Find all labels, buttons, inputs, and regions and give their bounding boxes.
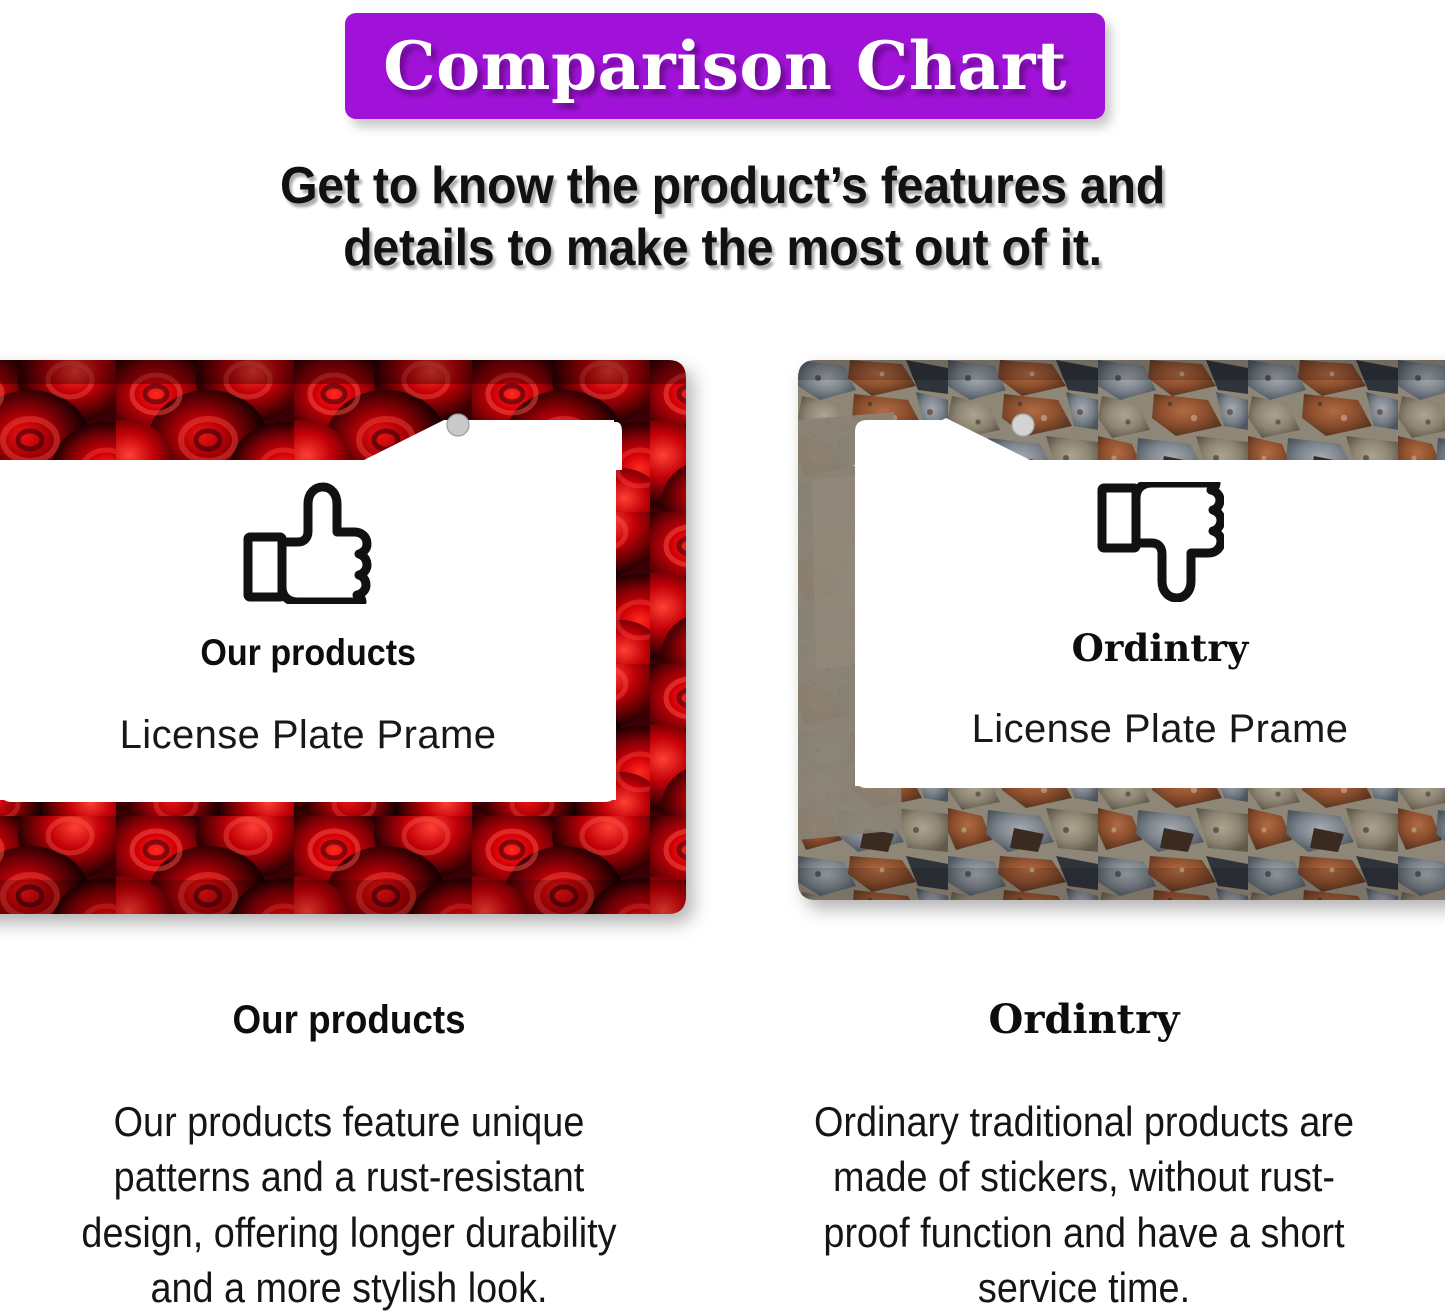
plate-window-ordinary: Ordintry License Plate Prame <box>855 460 1445 786</box>
subtitle-line-1: Get to know the product’s features and <box>51 155 1395 217</box>
page-subtitle: Get to know the product’s features and d… <box>51 155 1395 280</box>
plate-product-name-ours: License Plate Prame <box>120 715 497 755</box>
product-plate-ours: Our products License Plate Prame <box>0 360 688 916</box>
product-plate-ordinary: Ordintry License Plate Prame <box>798 360 1445 902</box>
plate-heading-ordinary: Ordintry <box>1072 630 1249 667</box>
thumbs-up-icon <box>242 482 374 604</box>
column-body-ours: Our products feature unique patterns and… <box>24 1094 674 1316</box>
column-heading-ours: Our products <box>17 1000 681 1040</box>
column-heading-ordinary: Ordintry <box>723 1000 1445 1040</box>
screw-hole <box>1012 414 1034 436</box>
column-ours: Our products Our products feature unique… <box>0 1000 710 1316</box>
column-body-ordinary: Ordinary traditional products are made o… <box>759 1094 1409 1316</box>
plate-heading-ours: Our products <box>200 634 416 671</box>
thumbs-down-icon <box>1096 482 1224 602</box>
plate-window-ours: Our products License Plate Prame <box>0 460 616 800</box>
screw-hole <box>447 414 469 436</box>
page-title: Comparison Chart <box>383 33 1067 99</box>
column-ordinary: Ordintry Ordinary traditional products a… <box>723 1000 1445 1316</box>
plate-product-name-ordinary: License Plate Prame <box>972 709 1349 749</box>
comparison-chart-banner: Comparison Chart <box>345 13 1105 119</box>
subtitle-line-2: details to make the most out of it. <box>51 217 1395 279</box>
